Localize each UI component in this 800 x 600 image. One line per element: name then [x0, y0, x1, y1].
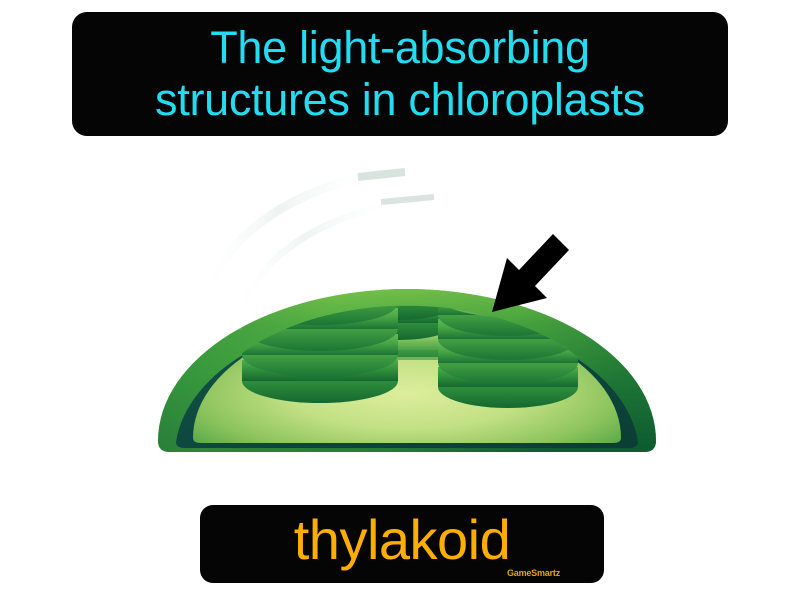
- watermark-label: GameSmartz: [507, 568, 560, 578]
- term-banner: thylakoid GameSmartz: [200, 505, 604, 583]
- thylakoid-disc: [340, 235, 456, 284]
- term-label: thylakoid: [200, 507, 604, 573]
- definition-banner: The light-absorbing structures in chloro…: [72, 12, 728, 136]
- definition-text: The light-absorbing structures in chloro…: [155, 22, 645, 126]
- chloroplast-illustration: [145, 155, 670, 465]
- chloroplast-svg: [145, 155, 670, 465]
- arrow-pointer: [492, 234, 569, 312]
